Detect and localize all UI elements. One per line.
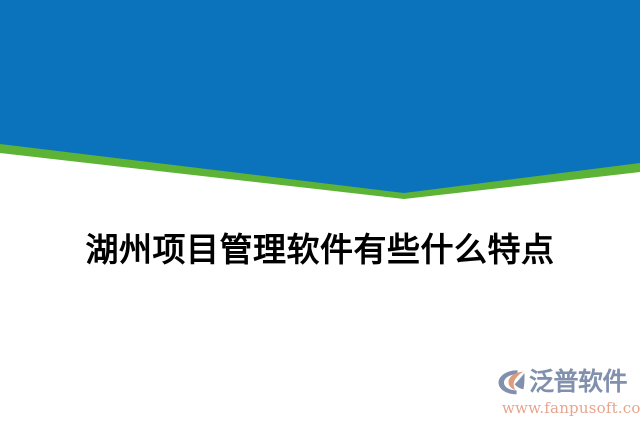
logo-row: 泛普软件: [497, 366, 637, 398]
page-title: 湖州项目管理软件有些什么特点: [0, 229, 640, 271]
logo-url-text: www.fanpusoft.com: [502, 399, 637, 417]
fanpu-leaf-logo-icon: [497, 368, 527, 396]
logo-wordmark: 泛普软件: [529, 368, 627, 396]
presentation-slide: 湖州项目管理软件有些什么特点 泛普软件 www.fanpusoft.com: [0, 0, 640, 427]
header-chevron-banner: [0, 0, 640, 210]
blue-chevron-shape: [0, 0, 640, 193]
brand-watermark: 泛普软件 www.fanpusoft.com: [497, 366, 637, 420]
